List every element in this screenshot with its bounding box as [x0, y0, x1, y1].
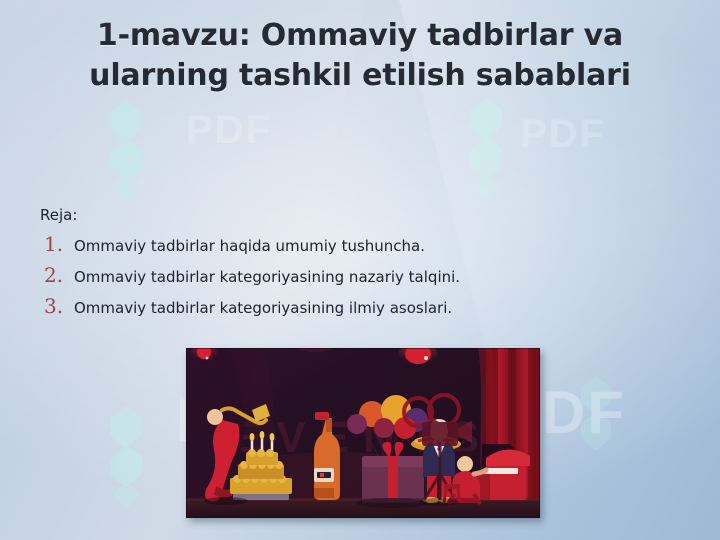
ribbon-logo-watermark-icon [92, 98, 164, 206]
list-item: 1. Ommaviy tadbirlar haqida umumiy tushu… [40, 232, 680, 256]
list-item-number: 1. [40, 232, 74, 256]
ribbon-logo-watermark-icon [452, 96, 524, 204]
list-item-label: Ommaviy tadbirlar kategoriyasining ilmiy… [74, 298, 452, 318]
list-item-label: Ommaviy tadbirlar haqida umumiy tushunch… [74, 236, 425, 256]
ribbon-logo-watermark-icon [92, 402, 164, 514]
title-line-1: 1-mavzu: Ommaviy tadbirlar va [14, 16, 706, 56]
list-item-number: 3. [40, 294, 74, 318]
list-item: 2. Ommaviy tadbirlar kategoriyasining na… [40, 263, 680, 287]
list-item-label: Ommaviy tadbirlar kategoriyasining nazar… [74, 267, 460, 287]
page-title: 1-mavzu: Ommaviy tadbirlar va ularning t… [0, 16, 720, 96]
list-item: 3. Ommaviy tadbirlar kategoriyasining il… [40, 294, 680, 318]
title-line-2: ularning tashkil etilish sabablari [14, 56, 706, 96]
pdf-text-watermark: PDF [520, 112, 606, 157]
agenda-label: Reja: [40, 206, 680, 224]
ribbon-logo-watermark-icon [566, 372, 630, 472]
agenda-block: Reja: 1. Ommaviy tadbirlar haqida umumiy… [40, 206, 680, 325]
agenda-list: 1. Ommaviy tadbirlar haqida umumiy tushu… [40, 232, 680, 318]
presentation-slide: PDF PDF PDF PDF [0, 0, 720, 540]
list-item-number: 2. [40, 263, 74, 287]
events-illustration: EVENTS [186, 348, 540, 518]
pdf-text-watermark: PDF [186, 108, 272, 153]
